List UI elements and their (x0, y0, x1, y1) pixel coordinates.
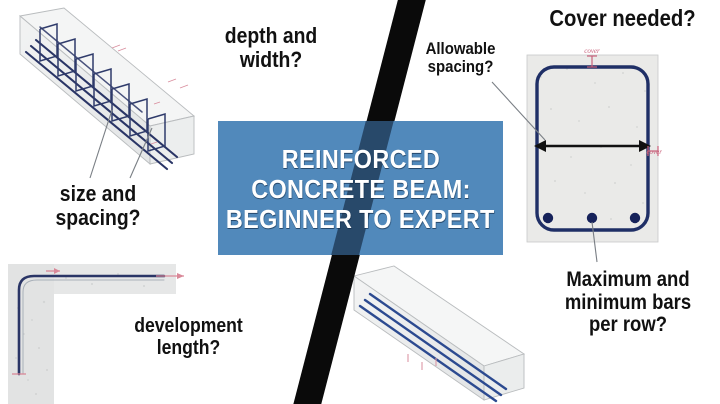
caption-max-min-bars-line3: per row? (547, 314, 709, 337)
caption-cover-needed-line1: Cover needed? (537, 6, 709, 31)
title-banner-text: REINFORCED CONCRETE BEAM: BEGINNER TO EX… (218, 121, 503, 255)
title-line-2: CONCRETE BEAM: (251, 174, 471, 204)
caption-development-length: development length? (107, 316, 270, 359)
caption-max-min-bars: Maximum and minimum bars per row? (547, 269, 709, 337)
title-banner: REINFORCED CONCRETE BEAM: BEGINNER TO EX… (218, 121, 503, 255)
caption-max-min-bars-line1: Maximum and (547, 269, 709, 292)
caption-depth-and-width-line2: width? (205, 48, 337, 72)
caption-depth-and-width: depth and width? (205, 24, 337, 72)
caption-allowable-spacing: Allowable spacing? (406, 40, 516, 77)
caption-cover-needed: Cover needed? (537, 6, 709, 31)
caption-max-min-bars-line2: minimum bars (547, 292, 709, 315)
caption-allowable-spacing-line1: Allowable (406, 40, 516, 58)
title-line-1: REINFORCED (281, 144, 439, 174)
caption-size-and-spacing-line1: size and (28, 182, 169, 206)
caption-size-and-spacing: size and spacing? (28, 182, 169, 230)
thumbnail-canvas: cover cover REINFORCED CONCRETE BEAM: BE… (0, 0, 720, 404)
caption-size-and-spacing-line2: spacing? (28, 206, 169, 230)
title-line-3: BEGINNER TO EXPERT (226, 204, 495, 234)
caption-development-length-line2: length? (107, 338, 270, 360)
caption-depth-and-width-line1: depth and (205, 24, 337, 48)
caption-allowable-spacing-line2: spacing? (406, 58, 516, 76)
caption-development-length-line1: development (107, 316, 270, 338)
